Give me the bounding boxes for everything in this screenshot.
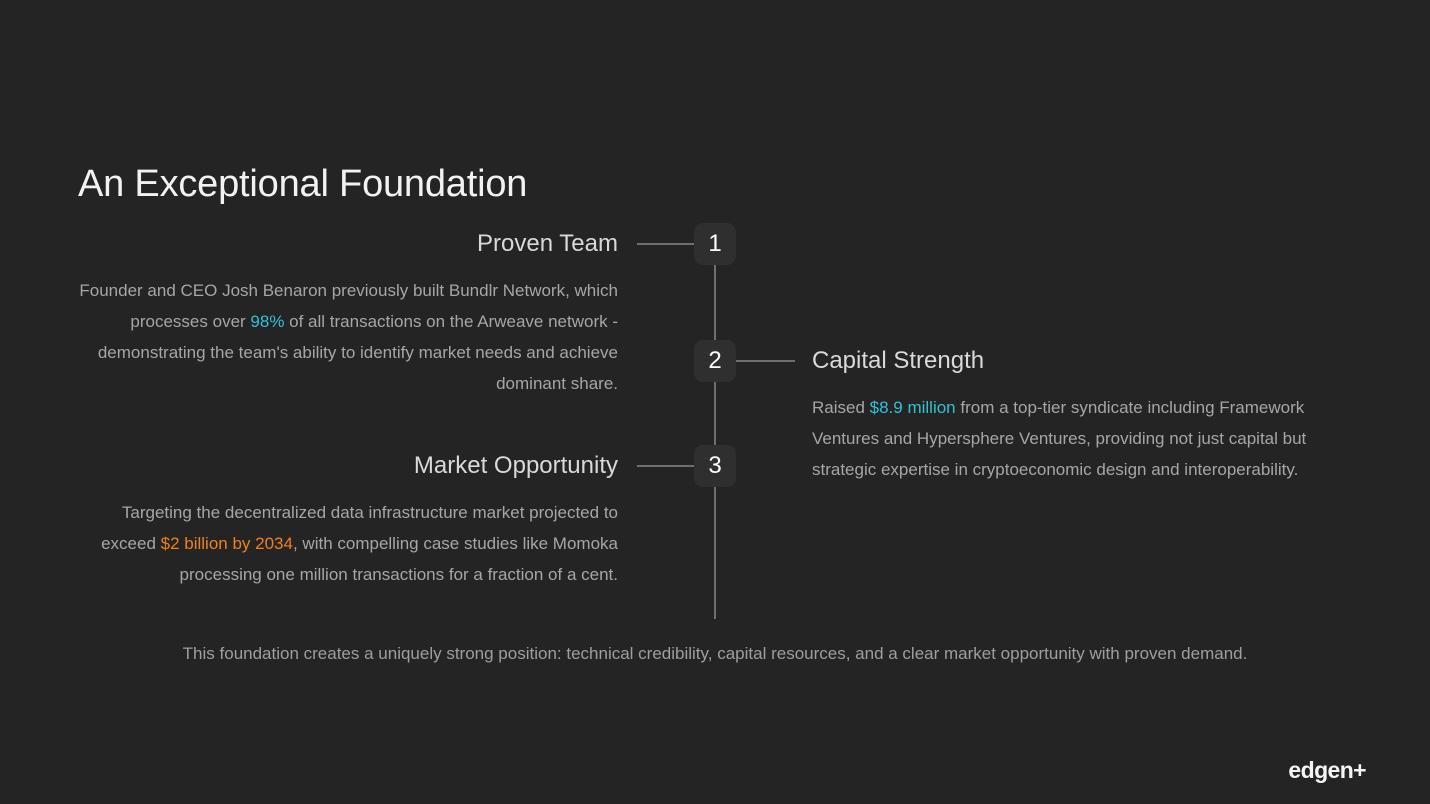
slide-root: An Exceptional Foundation 1 2 3 Proven T… (0, 0, 1430, 804)
highlight-funding-amount: $8.9 million (870, 398, 956, 417)
timeline-marker-3[interactable]: 3 (694, 445, 736, 487)
connector-line-3 (637, 465, 695, 467)
timeline-heading-market-opportunity: Market Opportunity (78, 451, 618, 481)
highlight-percentage: 98% (250, 312, 284, 331)
timeline-marker-1[interactable]: 1 (694, 223, 736, 265)
timeline-body-proven-team: Founder and CEO Josh Benaron previously … (78, 275, 618, 399)
timeline-block-market-opportunity: Market Opportunity Targeting the decentr… (78, 451, 618, 590)
timeline-heading-capital-strength: Capital Strength (812, 346, 1352, 376)
timeline-spine (714, 262, 716, 619)
timeline-body-market-opportunity: Targeting the decentralized data infrast… (78, 497, 618, 590)
summary-text: This foundation creates a uniquely stron… (78, 641, 1352, 667)
timeline-block-capital-strength: Capital Strength Raised $8.9 million fro… (812, 346, 1352, 485)
connector-line-1 (637, 243, 695, 245)
timeline-block-proven-team: Proven Team Founder and CEO Josh Benaron… (78, 229, 618, 399)
timeline-heading-proven-team: Proven Team (78, 229, 618, 259)
highlight-market-size: $2 billion by 2034 (161, 534, 293, 553)
connector-line-2 (736, 360, 795, 362)
timeline-body-capital-strength: Raised $8.9 million from a top-tier synd… (812, 392, 1352, 485)
timeline-marker-2[interactable]: 2 (694, 340, 736, 382)
page-title: An Exceptional Foundation (78, 158, 527, 210)
body-text-before: Raised (812, 398, 870, 417)
brand-logo: edgen+ (1288, 759, 1366, 782)
